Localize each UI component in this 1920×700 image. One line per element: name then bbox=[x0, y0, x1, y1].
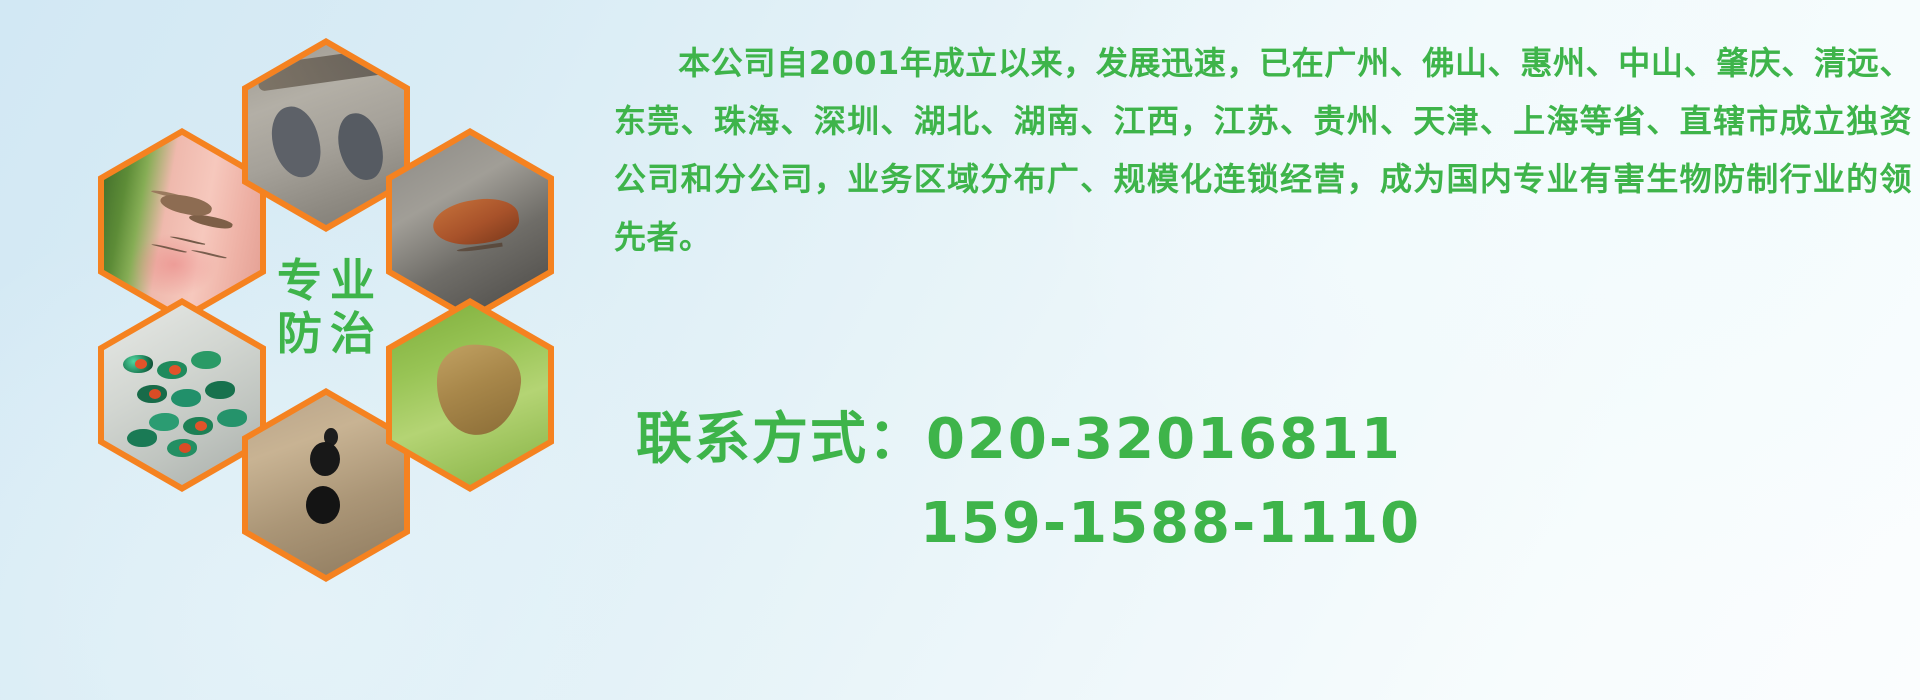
company-intro-text: 本公司自2001年成立以来，发展迅速，已在广州、佛山、惠州、中山、肇庆、清远、东… bbox=[614, 44, 1912, 256]
hexagon-stinkbug bbox=[386, 298, 554, 492]
flies-photo-icon bbox=[104, 305, 260, 485]
mosquito-photo-icon bbox=[104, 135, 260, 315]
banner-content: 本公司自2001年成立以来，发展迅速，已在广州、佛山、惠州、中山、肇庆、清远、东… bbox=[600, 0, 1920, 700]
slogan-hexagon: 专业 防治 bbox=[242, 210, 410, 404]
company-intro-paragraph: 本公司自2001年成立以来，发展迅速，已在广州、佛山、惠州、中山、肇庆、清远、东… bbox=[614, 34, 1912, 266]
contact-line-secondary[interactable]: 159-1588-1110 bbox=[620, 482, 1910, 566]
slogan-line-1: 专业 bbox=[269, 258, 383, 303]
cockroach-photo-icon bbox=[392, 135, 548, 315]
hexagon-photo-cluster: 专业 防治 bbox=[90, 0, 590, 575]
slogan-line-2: 防治 bbox=[269, 311, 383, 356]
pest-control-banner: 专业 防治 本公司自2001年成立以来，发展迅速，已在广州、佛山、惠州、中山、肇… bbox=[0, 0, 1920, 700]
hexagon-mosquito bbox=[98, 128, 266, 322]
ant-photo-icon bbox=[248, 395, 404, 575]
hexagon-cockroach bbox=[386, 128, 554, 322]
hexagon-ant bbox=[242, 388, 410, 582]
hexagon-flies-inner bbox=[104, 305, 260, 485]
hexagon-rats bbox=[242, 38, 410, 232]
stinkbug-photo-icon bbox=[392, 305, 548, 485]
hexagon-ant-inner bbox=[248, 395, 404, 575]
contact-block: 联系方式：020-32016811 159-1588-1110 bbox=[620, 398, 1910, 566]
rats-photo-icon bbox=[248, 45, 404, 225]
contact-line-primary[interactable]: 联系方式：020-32016811 bbox=[620, 398, 1910, 482]
hexagon-stinkbug-inner bbox=[392, 305, 548, 485]
hexagon-flies bbox=[98, 298, 266, 492]
hexagon-cockroach-inner bbox=[392, 135, 548, 315]
hexagon-rats-inner bbox=[248, 45, 404, 225]
hexagon-mosquito-inner bbox=[104, 135, 260, 315]
